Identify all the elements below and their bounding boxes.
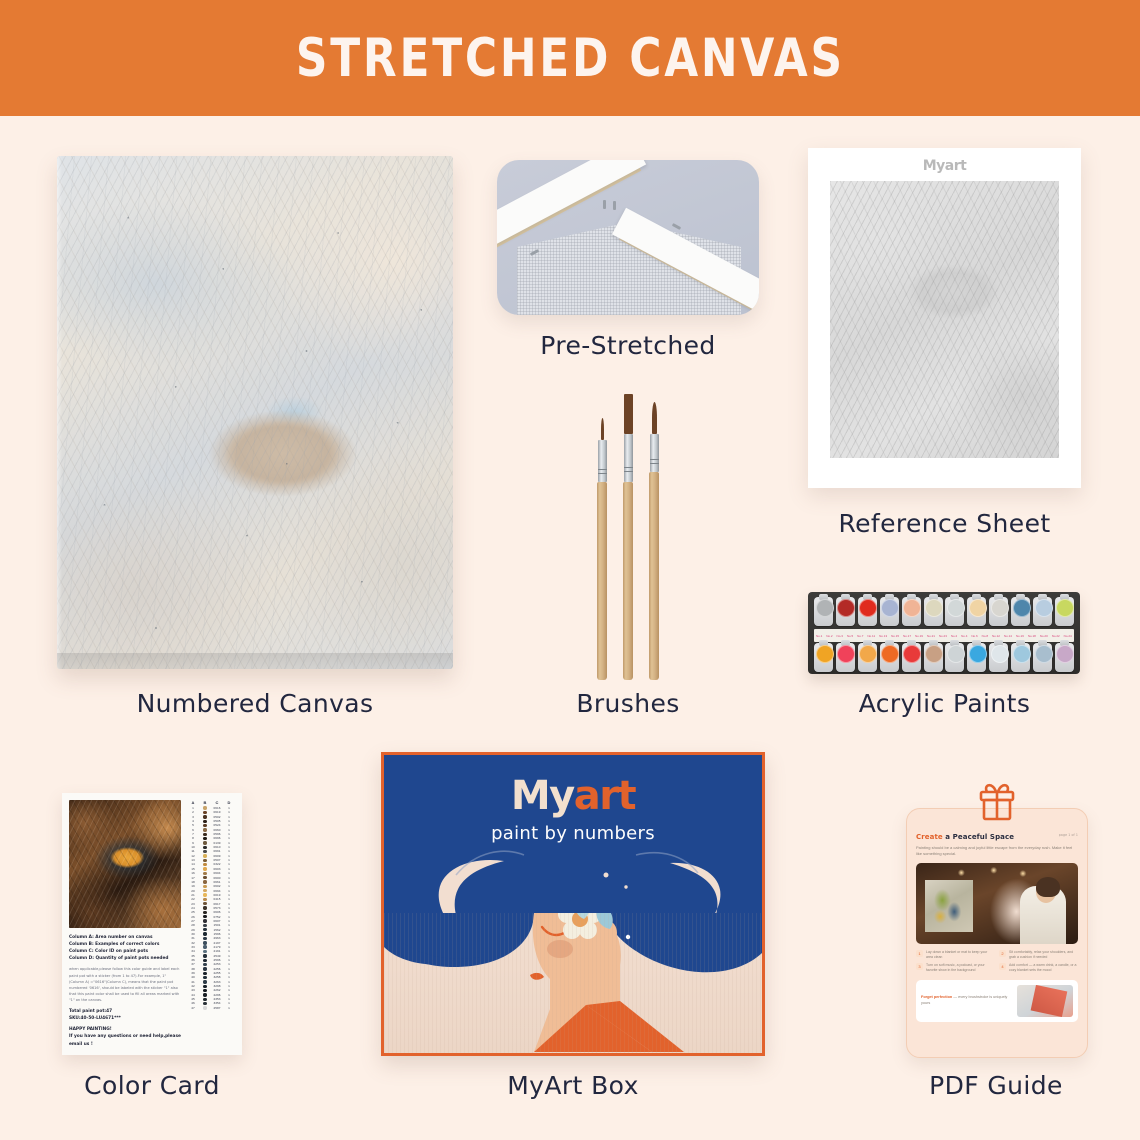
cell-color-swatch — [199, 867, 211, 870]
paint-pot — [836, 643, 855, 672]
easel-canvas — [925, 880, 973, 932]
acrylic-paints-image: No.1No.2No.3No.5No.7No.11No.13No.15No.17… — [808, 592, 1080, 674]
paint-pot-lid — [969, 599, 987, 617]
cell-color-swatch — [199, 989, 211, 992]
cell-color-swatch — [199, 880, 211, 883]
gift-icon — [973, 780, 1021, 829]
cell-color-swatch — [199, 885, 211, 888]
cell-color-swatch — [199, 876, 211, 879]
paint-label-code: No.19 — [915, 634, 923, 638]
paint-pot-lid — [816, 599, 834, 617]
paint-pot — [880, 643, 899, 672]
paint-pot-lid — [881, 645, 899, 663]
cell-quantity: 1 — [223, 1006, 235, 1010]
paint-label-code: No.5 — [847, 634, 853, 638]
color-card-left-column: Column A: Area number on canvas Column B… — [69, 800, 181, 1048]
cell-color-swatch — [199, 850, 211, 853]
pdf-tip-item: 2Sit comfortably, relax your shoulders, … — [999, 950, 1078, 960]
tip-text: Sit comfortably, relax your shoulders, a… — [1009, 950, 1078, 960]
header-banner: STRETCHED CANVAS — [0, 0, 1140, 116]
paint-pot — [1055, 597, 1074, 626]
cell-color-swatch — [199, 937, 211, 940]
paint-pot — [1033, 643, 1052, 672]
cell-color-swatch — [199, 1002, 211, 1005]
caption-acrylic-paints: Acrylic Paints — [808, 689, 1081, 718]
paint-pot-lid — [816, 645, 834, 663]
cell-color-swatch — [199, 863, 211, 866]
paint-pot — [902, 597, 921, 626]
paint-pot — [814, 597, 833, 626]
tip-text: Lay down a blanket or mat to keep your a… — [926, 950, 995, 960]
paint-pot — [945, 597, 964, 626]
paint-pot — [858, 643, 877, 672]
legend-line-b: Column B: Examples of correct colors — [69, 941, 181, 948]
total-paint-pot: Total paint pot:47 — [69, 1008, 181, 1015]
cell-color-swatch — [199, 976, 211, 979]
tip-number-icon: 3 — [916, 963, 923, 970]
paint-pot-lid — [1035, 599, 1053, 617]
paint-pot-lid — [947, 599, 965, 617]
brush-medium — [649, 404, 659, 680]
paint-pot — [989, 597, 1008, 626]
callout-bold: Forget perfection — [921, 995, 952, 999]
cell-color-swatch — [199, 911, 211, 914]
paint-label-code: No.14 — [1004, 634, 1012, 638]
cell-color-swatch — [199, 872, 211, 875]
paint-pot — [836, 597, 855, 626]
legend-line-c: Column C: Color ID on paint pots — [69, 948, 181, 955]
paint-label-code: No.4 — [961, 634, 967, 638]
table-column-header: A — [187, 800, 199, 805]
tip-number-icon: 2 — [999, 950, 1006, 957]
staple-icon — [672, 223, 681, 230]
paint-pot-lid — [991, 599, 1009, 617]
brushes-image — [583, 388, 677, 680]
table-column-header: B — [199, 800, 211, 805]
legend-line-a: Column A: Area number on canvas — [69, 934, 181, 941]
caption-pre-stretched: Pre-Stretched — [497, 331, 759, 360]
pdf-callout-image — [1017, 985, 1073, 1017]
numbered-canvas-image — [57, 156, 453, 669]
paint-label-code: No.12 — [992, 634, 1000, 638]
pdf-headline-rest: a Peaceful Space — [943, 833, 1014, 841]
paint-label-code: No.23 — [939, 634, 947, 638]
cell-color-swatch — [199, 972, 211, 975]
caption-myart-box: MyArt Box — [381, 1071, 765, 1100]
cell-color-swatch — [199, 859, 211, 862]
paint-label-code: No.24 — [1064, 634, 1072, 638]
tip-number-icon: 1 — [916, 950, 923, 957]
cell-color-swatch — [199, 963, 211, 966]
pdf-callout: Forget perfection — every brushstroke is… — [916, 980, 1078, 1022]
cell-area-number: 47 — [187, 1006, 199, 1010]
paint-label-strip: No.1No.2No.3No.5No.7No.11No.13No.15No.17… — [814, 629, 1074, 642]
pdf-headline: page 1 of 1 Create a Peaceful Space — [916, 833, 1078, 841]
brush-flat — [623, 392, 633, 680]
pdf-tip-item: 1Lay down a blanket or mat to keep your … — [916, 950, 995, 960]
paint-pot-lid — [925, 645, 943, 663]
contact-line: If you have any questions or need help,p… — [69, 1033, 181, 1048]
paint-pot-lid — [1013, 645, 1031, 663]
paint-pot-lid — [859, 645, 877, 663]
paint-pot — [814, 643, 833, 672]
paint-label-code: No.2 — [826, 634, 832, 638]
pdf-callout-text: Forget perfection — every brushstroke is… — [921, 995, 1012, 1006]
paint-pot — [924, 643, 943, 672]
paint-pot-lid — [969, 645, 987, 663]
pdf-tip-item: 4Add comfort — a warm drink, a candle, o… — [999, 963, 1078, 973]
pdf-tip-item: 3Turn on soft music, a podcast, or your … — [916, 963, 995, 973]
woman-illustration — [384, 913, 762, 1052]
caption-brushes: Brushes — [497, 689, 759, 718]
paint-pot — [1055, 643, 1074, 672]
caption-numbered-canvas: Numbered Canvas — [57, 689, 453, 718]
paint-pot — [1033, 597, 1052, 626]
brush-small — [597, 422, 607, 680]
cell-color-swatch — [199, 998, 211, 1001]
cell-color-swatch — [199, 950, 211, 953]
cell-color-swatch — [199, 846, 211, 849]
paint-pot — [989, 643, 1008, 672]
cell-color-swatch — [199, 898, 211, 901]
paint-label-code: No.6 — [971, 634, 977, 638]
cell-color-swatch — [199, 985, 211, 988]
table-row: 4725871 — [186, 1006, 236, 1010]
product-infographic: STRETCHED CANVAS Numbered Canvas Pre-Str… — [0, 0, 1140, 1140]
cell-color-swatch — [199, 854, 211, 857]
color-card-table: ABCD 10616120619130502140505150524160660… — [186, 800, 236, 1048]
paint-label-code: No.22 — [1052, 634, 1060, 638]
reference-sheet-logo: Myart — [808, 158, 1081, 174]
cell-color-swatch — [199, 841, 211, 844]
cell-color-swatch — [199, 893, 211, 896]
paint-label-code: No.18 — [1028, 634, 1036, 638]
cell-color-swatch — [199, 811, 211, 814]
page-title: STRETCHED CANVAS — [296, 28, 845, 89]
paint-pot-lid — [837, 599, 855, 617]
cell-color-swatch — [199, 932, 211, 935]
painter-hair — [1036, 877, 1060, 897]
paint-label-code: No.1 — [816, 634, 822, 638]
paint-label-code: No.20 — [1040, 634, 1048, 638]
paint-pot — [858, 597, 877, 626]
paint-pot-lid — [837, 645, 855, 663]
paint-label-code: No.7 — [857, 634, 863, 638]
hair-swoosh-decor — [384, 755, 762, 913]
paint-pot — [924, 597, 943, 626]
cell-color-swatch — [199, 902, 211, 905]
caption-pdf-guide: PDF Guide — [886, 1071, 1106, 1100]
caption-reference-sheet: Reference Sheet — [808, 509, 1081, 538]
cell-color-swatch — [199, 919, 211, 922]
pre-stretched-image — [497, 160, 759, 315]
paint-label-code: No.17 — [903, 634, 911, 638]
paint-label-code: No.21 — [927, 634, 935, 638]
cell-color-swatch — [199, 924, 211, 927]
paint-pot-lid — [859, 599, 877, 617]
color-card-image: Column A: Area number on canvas Column B… — [62, 793, 242, 1055]
color-card-photo — [69, 800, 181, 928]
table-body: 1061612061913050214050515052416066017059… — [186, 806, 236, 1010]
staple-icon — [613, 201, 616, 210]
cell-color-swatch — [199, 967, 211, 970]
paint-pot — [902, 643, 921, 672]
paint-pot — [1011, 643, 1030, 672]
paint-row-bottom — [812, 643, 1076, 674]
cell-color-swatch — [199, 820, 211, 823]
canvas-artwork — [57, 156, 453, 669]
paint-pot-lid — [925, 599, 943, 617]
cell-color-swatch — [199, 833, 211, 836]
paint-pot-lid — [1035, 645, 1053, 663]
paint-pot-lid — [1056, 599, 1074, 617]
box-bottom-panel — [384, 913, 762, 1053]
pdf-page-label: page 1 of 1 — [1059, 833, 1078, 837]
paint-label-code: No.13 — [879, 634, 887, 638]
paint-pot — [880, 597, 899, 626]
cell-color-swatch — [199, 959, 211, 962]
cell-color-swatch — [199, 828, 211, 831]
canvas-edge-highlight — [57, 156, 62, 669]
paint-pot-lid — [1013, 599, 1031, 617]
cell-color-swatch — [199, 815, 211, 818]
happy-painting: HAPPY PAINTING! — [69, 1026, 181, 1033]
caption-color-card: Color Card — [40, 1071, 264, 1100]
cell-color-swatch — [199, 954, 211, 957]
paint-label-code: No.11 — [867, 634, 875, 638]
pdf-headline-highlight: Create — [916, 833, 943, 841]
paint-pot — [1011, 597, 1030, 626]
pdf-photo — [916, 863, 1078, 944]
paint-pot-lid — [947, 645, 965, 663]
cell-color-swatch — [199, 906, 211, 909]
color-card-text: Column A: Area number on canvas Column B… — [69, 934, 181, 1048]
cell-color-swatch — [199, 980, 211, 983]
paint-pot-lid — [903, 599, 921, 617]
paint-pot — [945, 643, 964, 672]
pdf-guide-image: page 1 of 1 Create a Peaceful Space Pain… — [906, 808, 1088, 1058]
paint-pot-lid — [1056, 645, 1074, 663]
cell-color-swatch — [199, 1006, 211, 1009]
paint-label-code: No.2 — [951, 634, 957, 638]
tip-number-icon: 4 — [999, 963, 1006, 970]
canvas-depth-edge — [57, 653, 453, 669]
reference-sheet-image: Myart — [808, 148, 1081, 488]
paint-pot — [967, 643, 986, 672]
paint-label-code: No.15 — [891, 634, 899, 638]
cell-color-swatch — [199, 915, 211, 918]
cell-color-swatch — [199, 837, 211, 840]
reference-sheet-artwork — [830, 181, 1059, 458]
cell-color-swatch — [199, 993, 211, 996]
pdf-tips-list: 1Lay down a blanket or mat to keep your … — [916, 950, 1078, 974]
paint-pot — [967, 597, 986, 626]
paint-label-code: No.8 — [982, 634, 988, 638]
color-card-note: when applicable,please follow this color… — [69, 966, 181, 1003]
cell-color-swatch — [199, 806, 211, 809]
cell-color-swatch — [199, 889, 211, 892]
paint-label-code: No.16 — [1016, 634, 1024, 638]
cell-color-swatch — [199, 928, 211, 931]
legend-line-d: Column D: Quantity of paint pots needed — [69, 955, 181, 962]
cell-color-swatch — [199, 945, 211, 948]
staple-icon — [603, 200, 606, 209]
table-column-header: C — [211, 800, 223, 805]
paint-label-code: No.3 — [837, 634, 843, 638]
sku-code: SKU:40-50-LU4671*** — [69, 1015, 181, 1022]
table-column-header: D — [223, 800, 235, 805]
paint-pot-lid — [903, 645, 921, 663]
tip-text: Add comfort — a warm drink, a candle, or… — [1009, 963, 1078, 973]
pdf-guide-page: page 1 of 1 Create a Peaceful Space Pain… — [916, 833, 1078, 1037]
paint-pot-lid — [991, 645, 1009, 663]
box-top-panel: Myart paint by numbers — [384, 755, 762, 913]
myart-box-image: Myart paint by numbers — [381, 752, 765, 1056]
tip-text: Turn on soft music, a podcast, or your f… — [926, 963, 995, 973]
cell-color-swatch — [199, 941, 211, 944]
cell-color-id: 2587 — [211, 1006, 223, 1010]
cell-color-swatch — [199, 824, 211, 827]
paint-row-top — [812, 597, 1076, 628]
pdf-subtitle: Painting should be a calming and joyful … — [916, 845, 1078, 858]
paint-pot-lid — [881, 599, 899, 617]
